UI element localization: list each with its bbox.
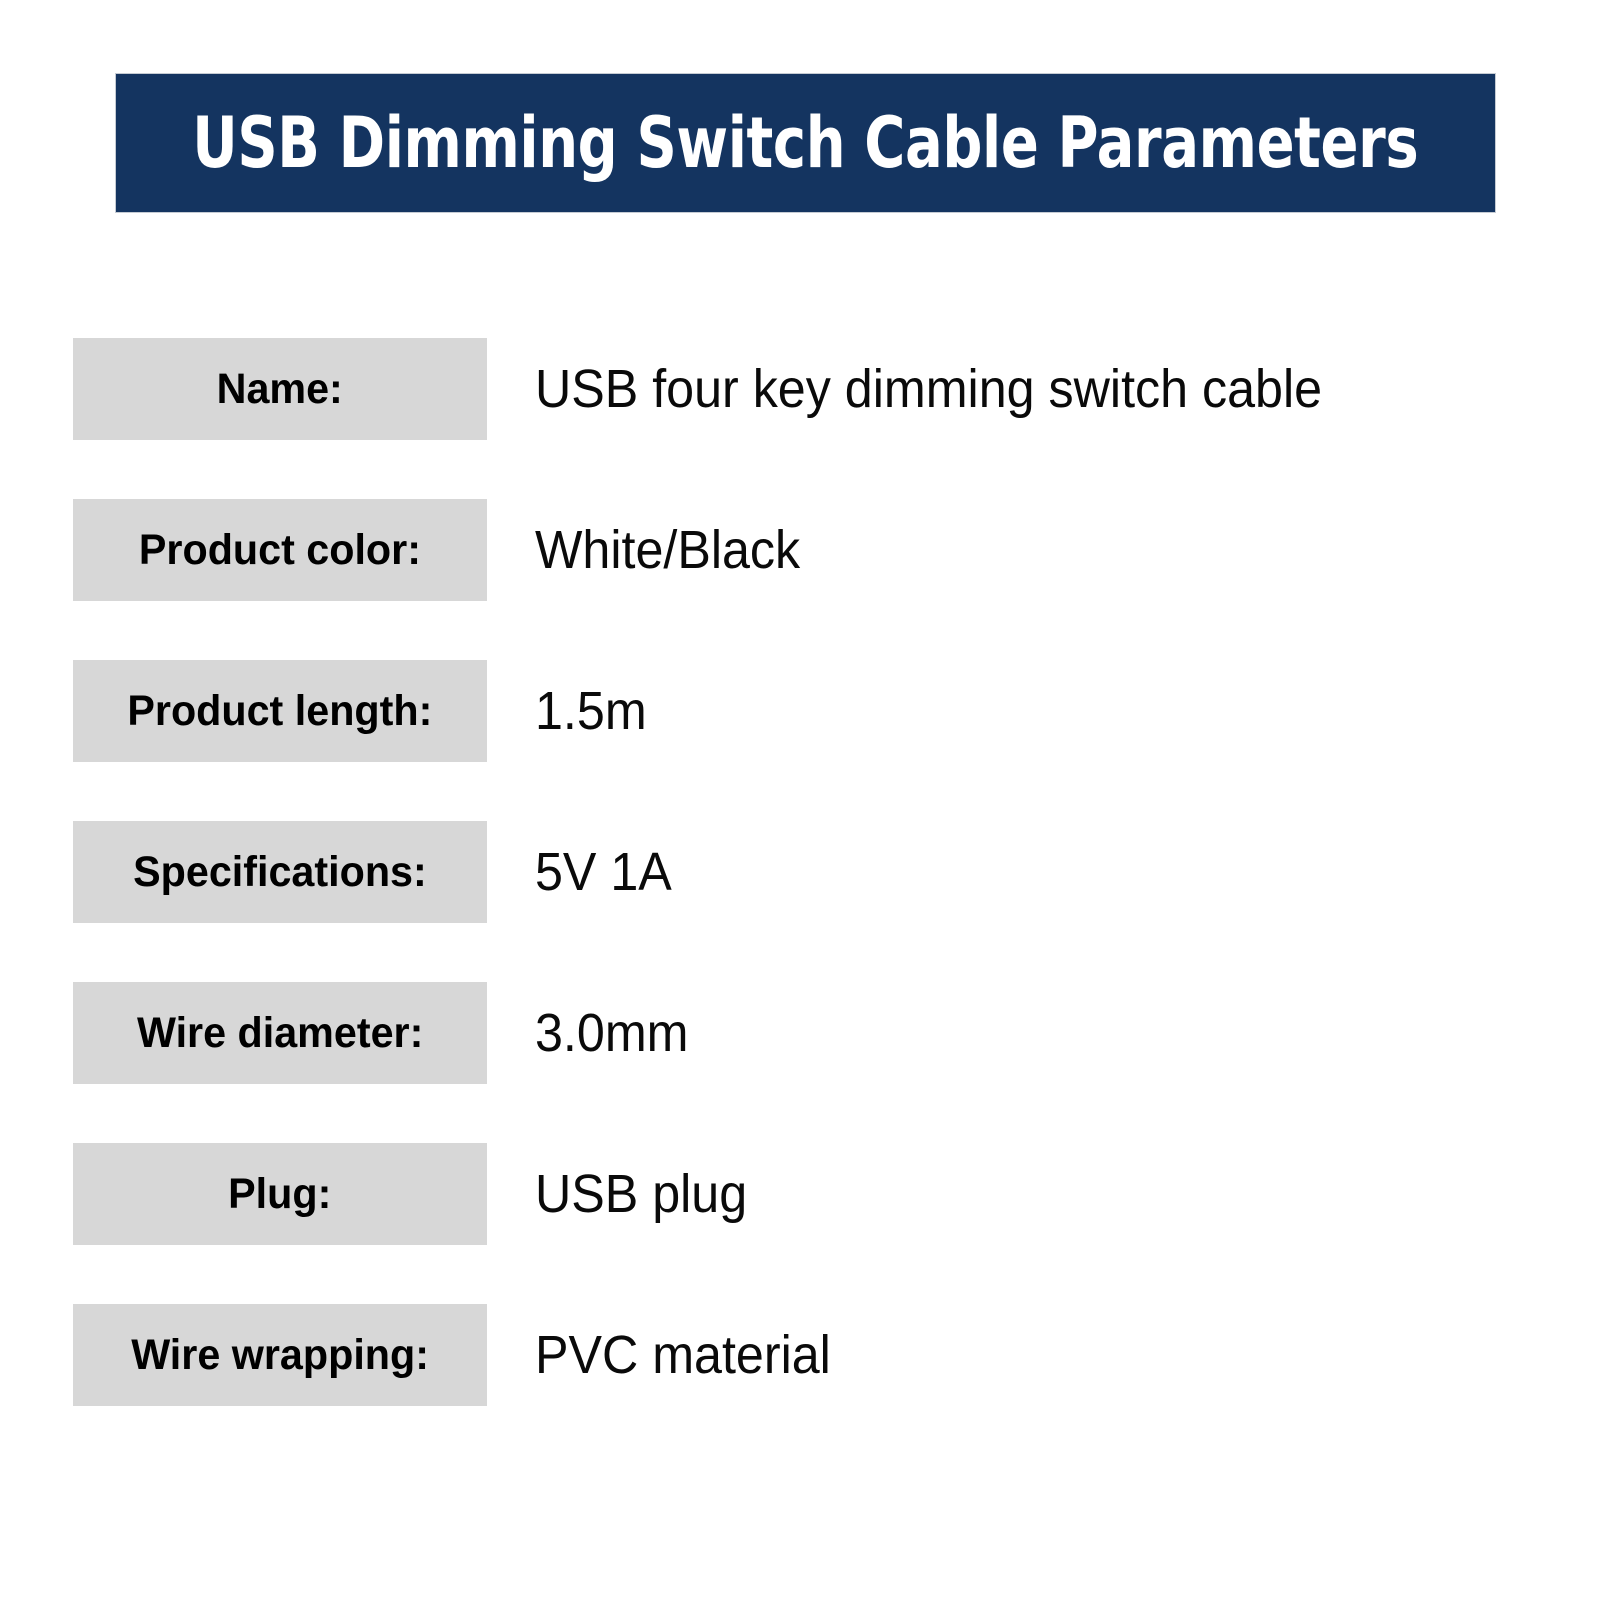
spec-label-text: Product length: [127,690,432,733]
spec-value-text: PVC material [535,1328,831,1382]
table-row: Product length: 1.5m [73,660,1523,762]
spec-label-cell: Product color: [73,499,487,601]
spec-label-text: Wire diameter: [137,1012,423,1055]
spec-label-text: Name: [217,368,343,411]
page-title: USB Dimming Switch Cable Parameters [193,108,1419,178]
spec-label-cell: Plug: [73,1143,487,1245]
spec-label-cell: Product length: [73,660,487,762]
spec-label-text: Plug: [228,1173,331,1216]
spec-value-cell: White/Black [535,499,820,601]
table-row: Wire wrapping: PVC material [73,1304,1523,1406]
spec-value-text: USB plug [535,1167,747,1221]
product-parameters-page: USB Dimming Switch Cable Parameters Name… [0,0,1600,1600]
spec-value-cell: USB plug [535,1143,763,1245]
spec-table: Name: USB four key dimming switch cable … [73,338,1523,1406]
spec-value-cell: PVC material [535,1304,853,1406]
spec-label-text: Product color: [139,529,421,572]
spec-label-cell: Name: [73,338,487,440]
table-row: Product color: White/Black [73,499,1523,601]
spec-value-text: 5V 1A [535,845,672,899]
table-row: Name: USB four key dimming switch cable [73,338,1523,440]
table-row: Specifications: 5V 1A [73,821,1523,923]
table-row: Plug: USB plug [73,1143,1523,1245]
spec-value-cell: 5V 1A [535,821,682,923]
spec-value-text: White/Black [535,523,800,577]
spec-label-cell: Wire wrapping: [73,1304,487,1406]
title-banner: USB Dimming Switch Cable Parameters [116,74,1495,212]
spec-value-cell: 3.0mm [535,982,700,1084]
spec-value-text: 1.5m [535,684,647,738]
table-row: Wire diameter: 3.0mm [73,982,1523,1084]
spec-label-cell: Wire diameter: [73,982,487,1084]
spec-label-cell: Specifications: [73,821,487,923]
spec-value-text: USB four key dimming switch cable [535,362,1322,416]
spec-label-text: Wire wrapping: [131,1334,429,1377]
spec-value-text: 3.0mm [535,1006,688,1060]
spec-label-text: Specifications: [133,851,427,894]
spec-value-cell: USB four key dimming switch cable [535,338,1381,440]
spec-value-cell: 1.5m [535,660,655,762]
